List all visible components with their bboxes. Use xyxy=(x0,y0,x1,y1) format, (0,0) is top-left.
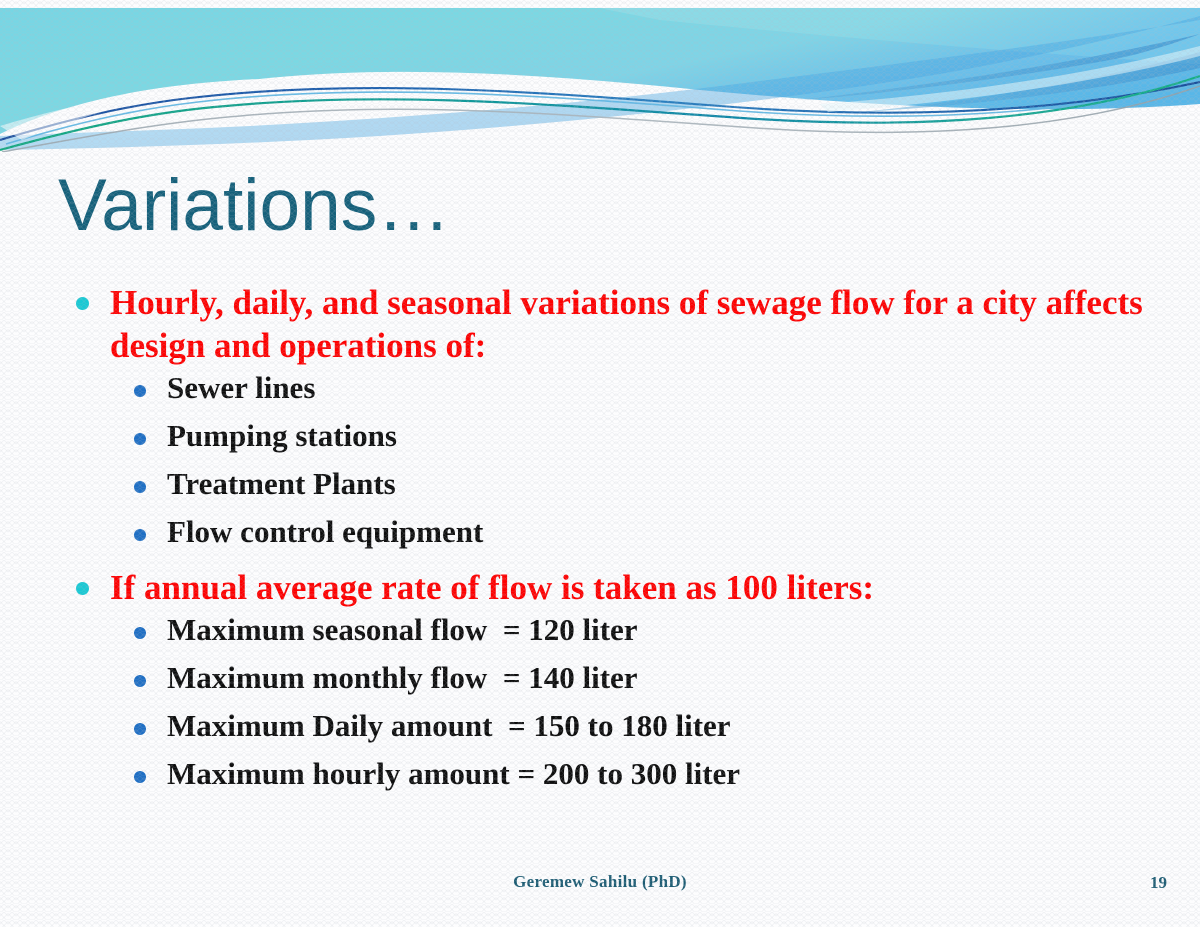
bullet-level2: Maximum Daily amount = 150 to 180 liter xyxy=(62,707,1152,755)
round-bullet-blue-icon xyxy=(134,771,146,783)
bullet-text: If annual average rate of flow is taken … xyxy=(110,568,874,607)
slide-body-content: Hourly, daily, and seasonal variations o… xyxy=(62,281,1152,803)
page-title: Variations… xyxy=(58,164,450,248)
bullet-text: Maximum Daily amount = 150 to 180 liter xyxy=(167,708,731,743)
bullet-text: Sewer lines xyxy=(167,370,315,405)
bullet-level2: Sewer lines xyxy=(62,369,1152,417)
round-bullet-cyan-icon xyxy=(76,297,89,310)
round-bullet-blue-icon xyxy=(134,529,146,541)
round-bullet-blue-icon xyxy=(134,675,146,687)
decorative-swoosh-graphic xyxy=(0,0,1200,152)
bullet-level2: Maximum hourly amount = 200 to 300 liter xyxy=(62,755,1152,803)
bullet-level2: Maximum monthly flow = 140 liter xyxy=(62,659,1152,707)
bullet-text: Treatment Plants xyxy=(167,466,396,501)
bullet-text: Maximum hourly amount = 200 to 300 liter xyxy=(167,756,740,791)
slide-page-number: 19 xyxy=(1150,873,1167,893)
round-bullet-blue-icon xyxy=(134,627,146,639)
bullet-level2: Pumping stations xyxy=(62,417,1152,465)
bullet-level2: Flow control equipment xyxy=(62,513,1152,561)
bullet-level2: Maximum seasonal flow = 120 liter xyxy=(62,611,1152,659)
bullet-text: Maximum monthly flow = 140 liter xyxy=(167,660,638,695)
bullet-text: Hourly, daily, and seasonal variations o… xyxy=(110,283,1143,365)
round-bullet-cyan-icon xyxy=(76,582,89,595)
bullet-text: Pumping stations xyxy=(167,418,397,453)
round-bullet-blue-icon xyxy=(134,481,146,493)
bullet-level2: Treatment Plants xyxy=(62,465,1152,513)
bullet-level1: If annual average rate of flow is taken … xyxy=(62,566,1152,609)
round-bullet-blue-icon xyxy=(134,433,146,445)
round-bullet-blue-icon xyxy=(134,723,146,735)
round-bullet-blue-icon xyxy=(134,385,146,397)
presentation-slide: Variations… Hourly, daily, and seasonal … xyxy=(0,0,1200,927)
bullet-text: Flow control equipment xyxy=(167,514,483,549)
footer-author-name: Geremew Sahilu (PhD) xyxy=(0,872,1200,892)
bullet-level1: Hourly, daily, and seasonal variations o… xyxy=(62,281,1152,367)
bullet-text: Maximum seasonal flow = 120 liter xyxy=(167,612,638,647)
